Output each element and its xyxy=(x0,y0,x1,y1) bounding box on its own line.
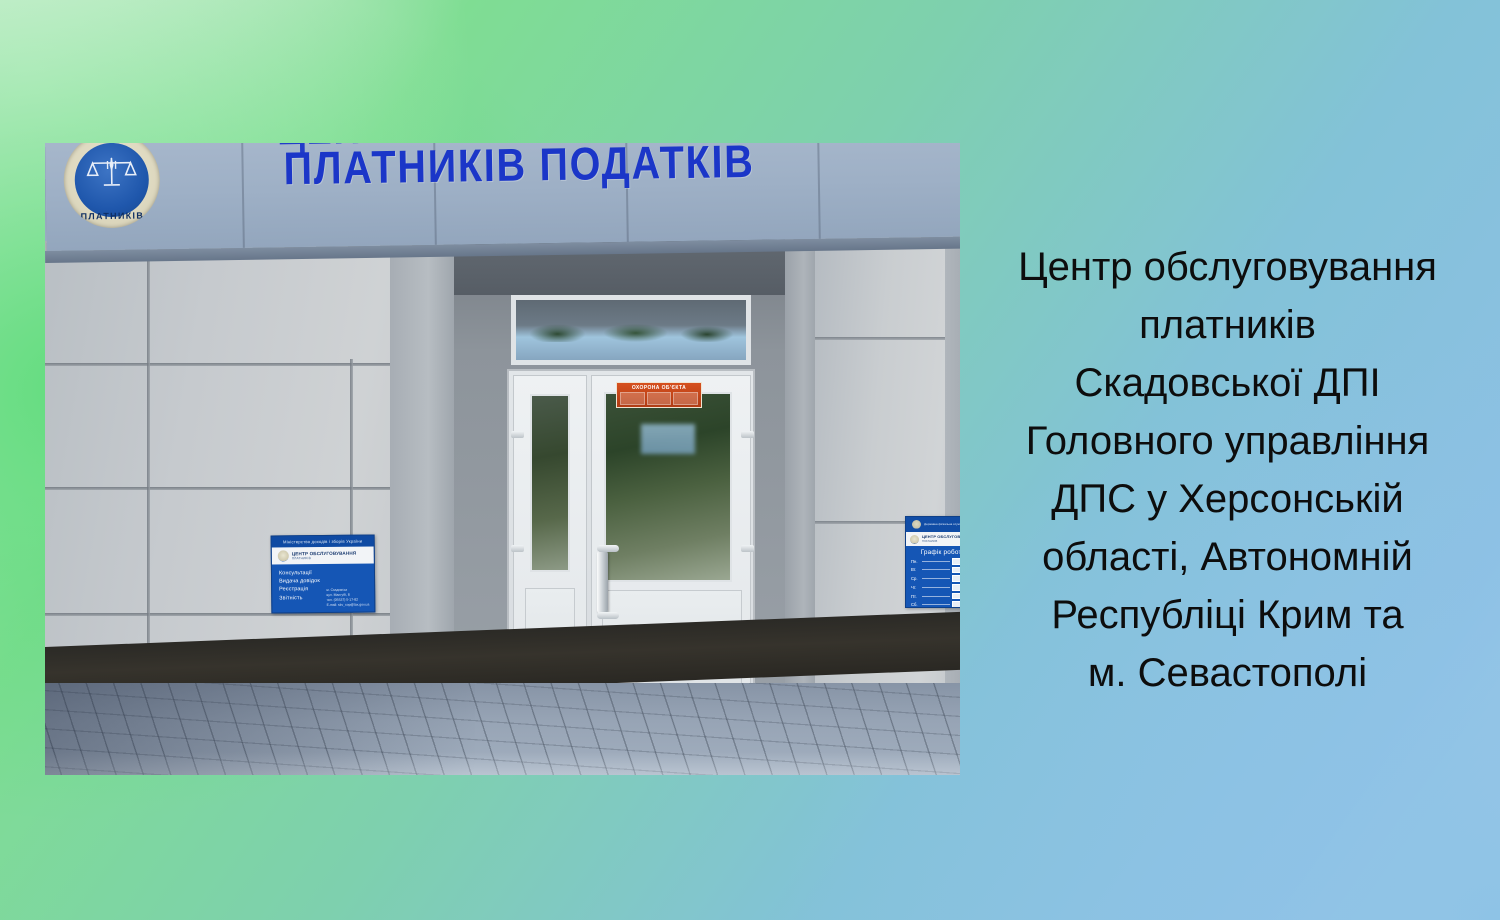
tax-service-emblem-icon xyxy=(910,535,919,544)
facade-sign-main-line: ПЛАТНИКІВ ПОДАТКІВ xyxy=(283,143,755,195)
schedule-leader-line xyxy=(922,604,950,605)
signboard-seam xyxy=(241,143,245,248)
door-hinge xyxy=(741,545,754,552)
door-hinge xyxy=(741,431,754,438)
schedule-day-label: Сб. xyxy=(911,602,922,607)
schedule-day-label: Пн. xyxy=(911,559,922,564)
presentation-slide: ОХОРОНА ОБ'ЄКТА xyxy=(0,0,1500,920)
door-left-glass xyxy=(530,394,570,572)
info-sign-org-title: ЦЕНТР ОБСЛУГОВУВАННЯ ПЛАТНИКІВ xyxy=(292,550,357,560)
schedule-row: Пн. xyxy=(911,558,960,565)
transom-reflection xyxy=(516,322,746,342)
schedule-row: Ср. xyxy=(911,575,960,582)
schedule-rows: Пн. Вт. Ср. Чт. xyxy=(906,558,960,608)
schedule-hours-box xyxy=(952,593,960,600)
schedule-day-label: Ср. xyxy=(911,576,922,581)
schedule-hours-box xyxy=(952,601,960,608)
schedule-org-title: ЦЕНТР ОБСЛУГОВУВАННЯ ПЛАТНИКІВ xyxy=(922,535,960,543)
info-sign-branding: ЦЕНТР ОБСЛУГОВУВАННЯ ПЛАТНИКІВ xyxy=(272,546,374,564)
info-sign-header: Міністерство доходів і зборів України xyxy=(272,535,374,547)
schedule-hours-box xyxy=(952,575,960,582)
tax-service-emblem-icon xyxy=(278,550,289,561)
schedule-hours-box xyxy=(952,584,960,591)
tax-service-emblem: ПЛАТНИКІВ xyxy=(63,143,160,229)
door-hinge xyxy=(511,431,524,438)
schedule-row: Сб. xyxy=(911,601,960,608)
schedule-row: Вт. xyxy=(911,567,960,574)
schedule-header-text: Державна фіскальна служба України xyxy=(924,523,960,527)
scales-of-justice-icon xyxy=(84,152,139,195)
schedule-sign-header: Державна фіскальна служба України xyxy=(906,517,960,532)
schedule-row: Пт. xyxy=(911,593,960,600)
schedule-leader-line xyxy=(922,578,950,579)
schedule-org-subtitle-text: ПЛАТНИКІВ xyxy=(922,540,960,543)
schedule-hours-box xyxy=(952,567,960,574)
signboard-seam xyxy=(817,143,821,239)
schedule-leader-line xyxy=(922,569,950,570)
schedule-title: Графік роботи xyxy=(906,546,960,558)
pavement-shadow xyxy=(45,683,475,775)
schedule-day-label: Вт. xyxy=(911,567,922,572)
schedule-day-label: Чт. xyxy=(911,585,922,590)
tax-service-emblem-icon xyxy=(912,520,921,529)
sticker-badge xyxy=(647,392,672,405)
door-security-sticker: ОХОРОНА ОБ'ЄКТА xyxy=(616,382,702,408)
information-sign: Міністерство доходів і зборів України ЦЕ… xyxy=(271,534,376,613)
glass-sky-reflection xyxy=(641,424,696,454)
panel-seam-horizontal xyxy=(815,337,960,340)
work-schedule-sign: Державна фіскальна служба України ЦЕНТР … xyxy=(905,516,960,608)
door-right-glass xyxy=(604,392,732,582)
facade-signboard: ПЛАТНИКІВ ЦЕНТР ОБСЛУГОВУВАННЯ ПЛАТНИКІВ… xyxy=(45,143,960,251)
info-org-subtitle-text: ПЛАТНИКІВ xyxy=(292,556,356,561)
door-hinge xyxy=(511,545,524,552)
door-handle[interactable] xyxy=(597,549,608,615)
door-sticker-badges xyxy=(617,391,701,406)
info-org-title-text: ЦЕНТР ОБСЛУГОВУВАННЯ xyxy=(292,550,357,556)
schedule-org-title-text: ЦЕНТР ОБСЛУГОВУВАННЯ xyxy=(922,534,960,539)
schedule-day-label: Пт. xyxy=(911,594,922,599)
sticker-badge xyxy=(673,392,698,405)
info-contact-line: E-mail: skv_cop@tax.gov.ua xyxy=(327,602,370,608)
info-sign-contacts: м. Скадовськ вул. Мангубі, 8 тел. (05537… xyxy=(326,587,369,608)
schedule-sign-branding: ЦЕНТР ОБСЛУГОВУВАННЯ ПЛАТНИКІВ xyxy=(906,532,960,546)
transom-window xyxy=(511,295,751,365)
building-entrance-photo: ОХОРОНА ОБ'ЄКТА xyxy=(45,143,960,775)
schedule-leader-line xyxy=(922,596,950,597)
slide-caption: Центр обслуговування платників Скадовськ… xyxy=(975,238,1480,702)
schedule-row: Чт. xyxy=(911,584,960,591)
schedule-leader-line xyxy=(922,561,950,562)
schedule-hours-box xyxy=(952,558,960,565)
schedule-leader-line xyxy=(922,587,950,588)
sticker-badge xyxy=(620,392,645,405)
emblem-ring-text: ПЛАТНИКІВ xyxy=(64,210,160,222)
